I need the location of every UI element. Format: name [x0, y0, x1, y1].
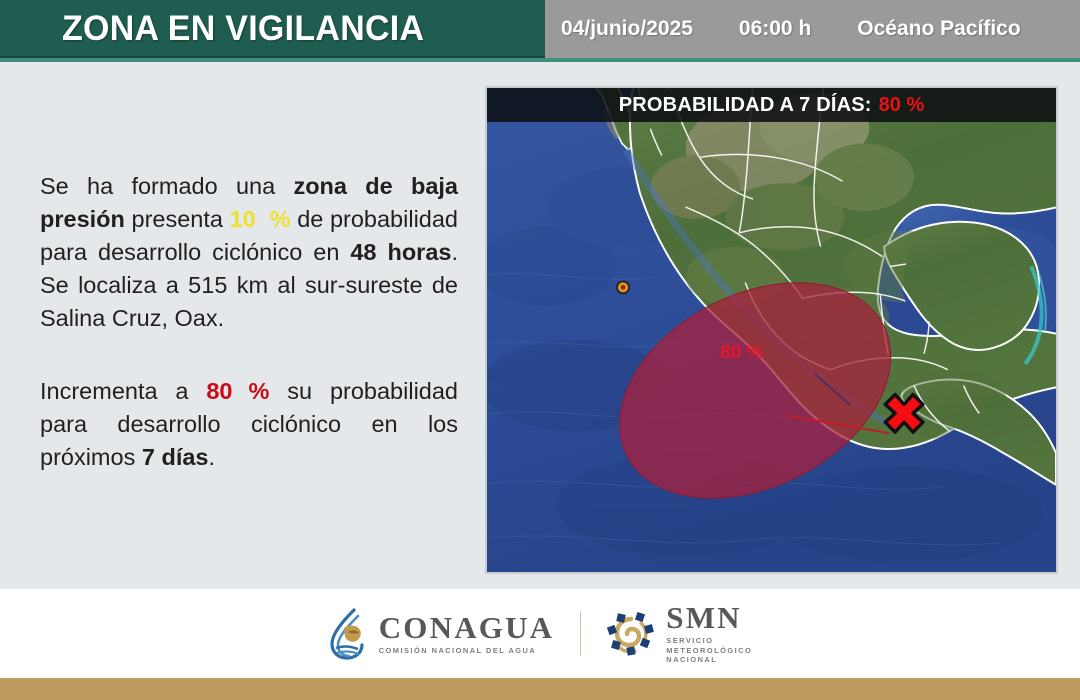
smn-name: SMN — [666, 602, 752, 633]
header-accent-line — [0, 58, 1080, 62]
conagua-subtitle: COMISIÓN NACIONAL DEL AGUA — [379, 646, 555, 656]
area-probability-label: 80 % — [720, 341, 763, 362]
smn-subtitle-line1: SERVICIO — [666, 636, 752, 646]
smn-logo-group: SMN SERVICIO METEOROLÓGICO NACIONAL — [607, 602, 752, 665]
footer-logos: CONAGUA COMISIÓN NACIONAL DEL AGUA — [0, 589, 1080, 678]
conagua-wordmark: CONAGUA COMISIÓN NACIONAL DEL AGUA — [379, 612, 555, 656]
advisory-basin: Océano Pacífico — [857, 17, 1020, 41]
p2-text-3: . — [209, 444, 216, 470]
smn-subtitle-line3: NACIONAL — [666, 655, 752, 665]
logo-divider — [580, 612, 581, 656]
map-banner-value: 80 % — [879, 94, 925, 117]
p2-bold-7-dias: 7 días — [142, 444, 209, 470]
advisory-text-panel: Se ha formado una zona de baja presión p… — [40, 170, 458, 474]
conagua-waterdrop-eagle-icon — [328, 608, 368, 660]
conagua-logo-group: CONAGUA COMISIÓN NACIONAL DEL AGUA — [328, 608, 555, 660]
header-title-band: ZONA EN VIGILANCIA — [0, 0, 545, 58]
advisory-time: 06:00 h — [739, 17, 811, 41]
p1-text-2: presenta — [125, 206, 230, 232]
advisory-paragraph-48h: Se ha formado una zona de baja presión p… — [40, 170, 458, 335]
advisory-date: 04/junio/2025 — [561, 17, 693, 41]
smn-subtitle-line2: METEOROLÓGICO — [666, 646, 752, 656]
map-canvas: 80 % — [487, 88, 1056, 572]
tropical-outlook-map[interactable]: 80 % PROBABILIDAD A 7 DÍAS: 80 % — [485, 86, 1058, 574]
map-probability-banner: PROBABILIDAD A 7 DÍAS: 80 % — [487, 88, 1056, 122]
header-bar: ZONA EN VIGILANCIA 04/junio/2025 06:00 h… — [0, 0, 1080, 58]
p2-text-1: Incrementa a — [40, 378, 206, 404]
page-title: ZONA EN VIGILANCIA — [62, 9, 424, 49]
probability-48h-percent-sign: % — [270, 206, 291, 232]
advisory-paragraph-7d: Incrementa a 80% su probabilidad para de… — [40, 375, 458, 474]
advisory-infographic: ZONA EN VIGILANCIA 04/junio/2025 06:00 h… — [0, 0, 1080, 700]
smn-wordmark: SMN SERVICIO METEOROLÓGICO NACIONAL — [666, 602, 752, 665]
probability-7d-value: 80 — [206, 378, 232, 404]
p1-bold-48-horas: 48 horas — [350, 239, 451, 265]
smn-spiral-icon — [607, 609, 655, 657]
conagua-name: CONAGUA — [379, 612, 555, 643]
footer-accent-bar — [0, 678, 1080, 700]
probability-7d-percent-sign: % — [249, 378, 270, 404]
header-meta-band: 04/junio/2025 06:00 h Océano Pacífico — [545, 0, 1080, 58]
map-banner-label: PROBABILIDAD A 7 DÍAS: — [619, 94, 872, 117]
low-pressure-origin-marker — [617, 281, 629, 293]
p1-text-1: Se ha formado una — [40, 173, 293, 199]
probability-48h-value: 10 — [230, 206, 256, 232]
